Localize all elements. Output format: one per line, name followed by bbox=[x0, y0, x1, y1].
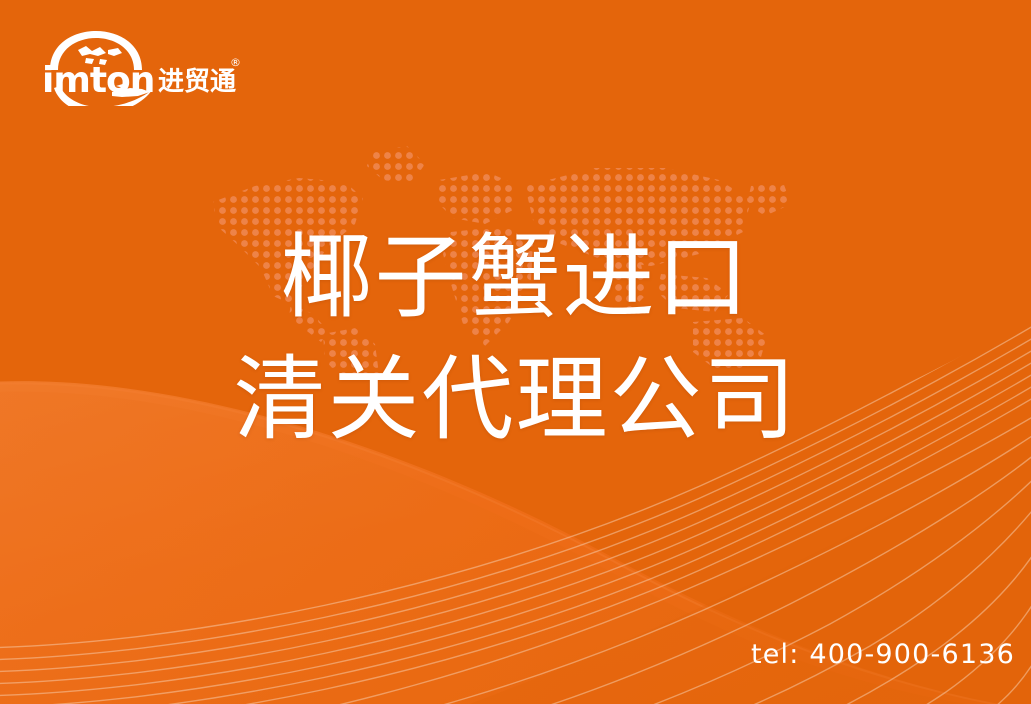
headline: 椰子蟹进口 清关代理公司 bbox=[0, 232, 1031, 446]
imton-logo[interactable]: imton 进贸通 ® bbox=[34, 26, 249, 106]
promo-banner: imton 进贸通 ® 椰子蟹进口 清关代理公司 tel: 400-900-61… bbox=[0, 0, 1031, 704]
contact-phone[interactable]: tel: 400-900-6136 bbox=[751, 639, 1015, 670]
logo-chinese-name: 进贸通 bbox=[158, 67, 236, 97]
headline-line-2: 清关代理公司 bbox=[0, 354, 1031, 446]
registered-trademark-icon: ® bbox=[230, 56, 241, 69]
headline-line-1: 椰子蟹进口 bbox=[0, 232, 1031, 324]
